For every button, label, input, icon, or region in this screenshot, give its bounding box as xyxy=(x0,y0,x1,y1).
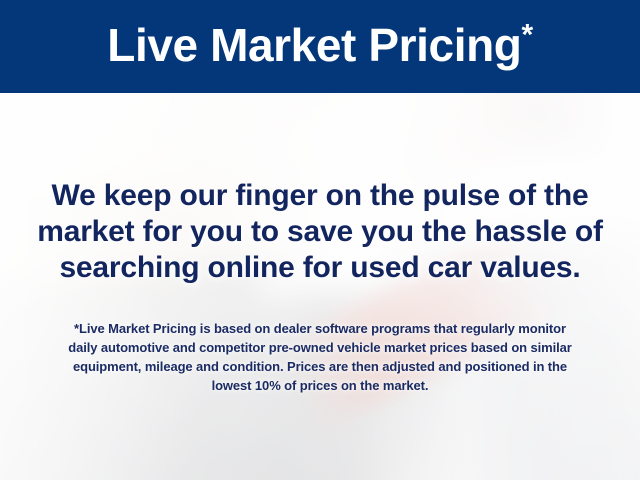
headline: We keep our finger on the pulse of the m… xyxy=(0,178,640,286)
page-title-text: Live Market Pricing xyxy=(107,19,521,71)
headline-line-2: market for you to save you the hassle of xyxy=(0,214,640,250)
disclaimer-line-4: lowest 10% of prices on the market. xyxy=(30,376,610,395)
disclaimer-line-1: *Live Market Pricing is based on dealer … xyxy=(30,319,610,338)
headline-line-3: searching online for used car values. xyxy=(0,250,640,286)
headline-line-1: We keep our finger on the pulse of the xyxy=(0,178,640,214)
disclaimer-line-3: equipment, mileage and condition. Prices… xyxy=(30,357,610,376)
live-market-pricing-slide: Live Market Pricing* We keep our finger … xyxy=(0,0,640,480)
title-asterisk: * xyxy=(521,18,532,51)
disclaimer-text: *Live Market Pricing is based on dealer … xyxy=(30,319,610,395)
disclaimer-line-2: daily automotive and competitor pre-owne… xyxy=(30,338,610,357)
title-banner: Live Market Pricing* xyxy=(0,0,640,93)
page-title: Live Market Pricing* xyxy=(107,22,533,72)
